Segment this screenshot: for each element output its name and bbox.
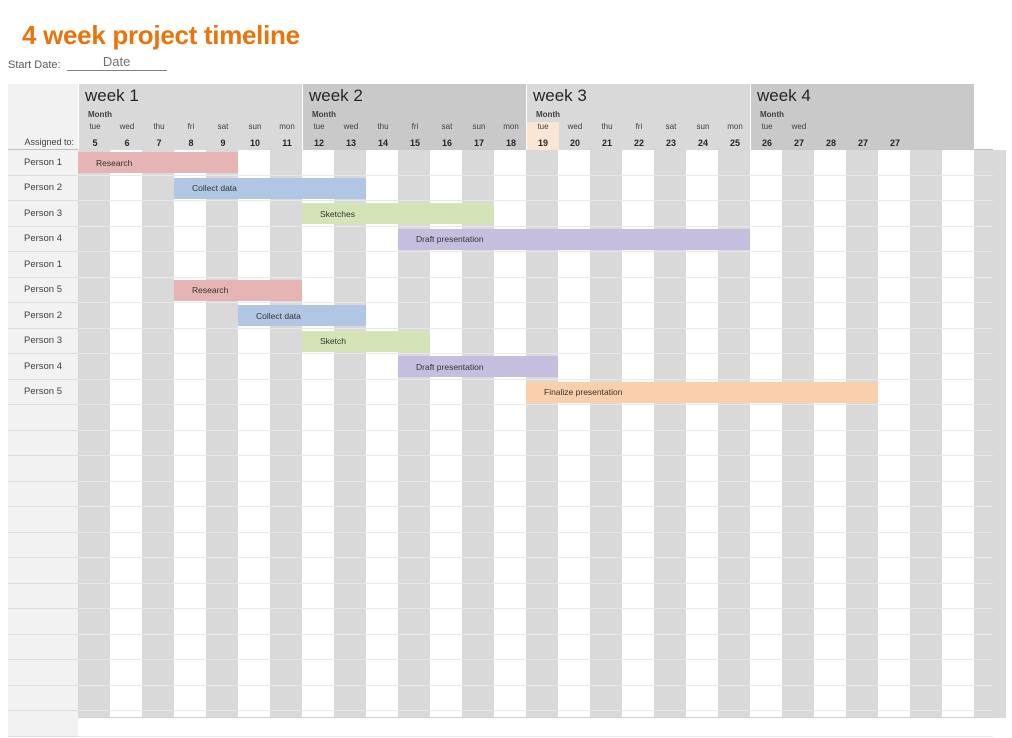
day-number: 13 bbox=[335, 138, 367, 148]
month-label: Month bbox=[536, 110, 560, 119]
table-row[interactable] bbox=[8, 558, 993, 584]
day-header-cell[interactable]: wed6 bbox=[111, 122, 143, 150]
day-header-cell[interactable]: wed27 bbox=[783, 122, 815, 150]
timeline-header: Assigned to: week 1Monthtue5wed6thu7fri8… bbox=[8, 84, 993, 150]
day-header-cell[interactable]: sun24 bbox=[687, 122, 719, 150]
day-header-cell[interactable]: thu21 bbox=[591, 122, 623, 150]
assignee-cell[interactable] bbox=[8, 456, 78, 482]
start-date-input[interactable]: Date bbox=[67, 54, 167, 71]
day-name: fri bbox=[399, 122, 431, 131]
day-number: 6 bbox=[111, 138, 143, 148]
table-row[interactable]: Person 3 bbox=[8, 329, 993, 355]
assignee-cell[interactable] bbox=[8, 660, 78, 686]
table-row[interactable]: Person 2 bbox=[8, 176, 993, 202]
day-number: 25 bbox=[719, 138, 751, 148]
week-header-block: week 2Monthtue12wed13thu14fri15sat16sun1… bbox=[302, 84, 526, 150]
day-number: 17 bbox=[463, 138, 495, 148]
day-header-cell[interactable]: tue19 bbox=[527, 122, 559, 150]
assignee-cell[interactable]: Person 2 bbox=[8, 303, 78, 329]
table-row[interactable] bbox=[8, 711, 993, 737]
day-number: 18 bbox=[495, 138, 527, 148]
day-name: wed bbox=[335, 122, 367, 131]
assignee-cell[interactable] bbox=[8, 635, 78, 661]
day-name: thu bbox=[591, 122, 623, 131]
assignee-cell[interactable] bbox=[8, 533, 78, 559]
task-bar[interactable]: Research bbox=[78, 152, 238, 173]
day-name: sat bbox=[207, 122, 239, 131]
timeline-body: Person 1Person 2Person 3Person 4Person 1… bbox=[8, 150, 993, 718]
assignee-cell[interactable] bbox=[8, 558, 78, 584]
day-header-cell[interactable]: thu14 bbox=[367, 122, 399, 150]
day-number: 21 bbox=[591, 138, 623, 148]
day-name: mon bbox=[271, 122, 303, 131]
assignee-cell[interactable] bbox=[8, 431, 78, 457]
table-row[interactable] bbox=[8, 609, 993, 635]
week-title: week 3 bbox=[533, 86, 587, 106]
page-title: 4 week project timeline bbox=[22, 20, 300, 51]
day-header-cell[interactable]: wed20 bbox=[559, 122, 591, 150]
day-header-cell[interactable]: sat16 bbox=[431, 122, 463, 150]
header-left-corner: Assigned to: bbox=[8, 84, 78, 150]
day-name: tue bbox=[303, 122, 335, 131]
task-bar[interactable]: Draft presentation bbox=[398, 356, 558, 377]
task-bar[interactable]: Sketches bbox=[302, 203, 494, 224]
table-row[interactable] bbox=[8, 635, 993, 661]
assignee-cell[interactable] bbox=[8, 405, 78, 431]
assignee-cell[interactable] bbox=[8, 711, 78, 737]
week-header-block: week 1Monthtue5wed6thu7fri8sat9sun10mon1… bbox=[78, 84, 302, 150]
assigned-to-header: Assigned to: bbox=[8, 137, 74, 147]
day-header-cell[interactable]: tue12 bbox=[303, 122, 335, 150]
day-number: 14 bbox=[367, 138, 399, 148]
day-header-cell[interactable] bbox=[911, 122, 943, 150]
assignee-cell[interactable]: Person 4 bbox=[8, 227, 78, 253]
day-header-cell[interactable] bbox=[943, 122, 975, 150]
assignee-cell[interactable]: Person 1 bbox=[8, 150, 78, 176]
assignee-cell[interactable]: Person 5 bbox=[8, 278, 78, 304]
day-number: 15 bbox=[399, 138, 431, 148]
day-name: wed bbox=[111, 122, 143, 131]
table-row[interactable] bbox=[8, 660, 993, 686]
day-name: fri bbox=[175, 122, 207, 131]
table-row[interactable] bbox=[8, 584, 993, 610]
day-number: 27 bbox=[783, 138, 815, 148]
day-number: 27 bbox=[847, 138, 879, 148]
day-name: thu bbox=[143, 122, 175, 131]
table-row[interactable] bbox=[8, 533, 993, 559]
day-number: 27 bbox=[879, 138, 911, 148]
week-title: week 2 bbox=[309, 86, 363, 106]
assignee-cell[interactable] bbox=[8, 482, 78, 508]
day-name: thu bbox=[367, 122, 399, 131]
day-header-cell[interactable]: sat9 bbox=[207, 122, 239, 150]
day-name: sun bbox=[463, 122, 495, 131]
day-number: 11 bbox=[271, 138, 303, 148]
day-name: sat bbox=[655, 122, 687, 131]
month-label: Month bbox=[88, 110, 112, 119]
day-header-cell[interactable]: wed13 bbox=[335, 122, 367, 150]
table-row[interactable]: Person 5 bbox=[8, 278, 993, 304]
table-row[interactable] bbox=[8, 405, 993, 431]
day-header-cell[interactable]: 27 bbox=[879, 122, 911, 150]
assignee-cell[interactable] bbox=[8, 609, 78, 635]
day-name: tue bbox=[527, 122, 559, 131]
day-name: mon bbox=[495, 122, 527, 131]
task-bar[interactable]: Sketch bbox=[302, 331, 430, 352]
task-bar[interactable]: Finalize presentation bbox=[526, 382, 878, 403]
assignee-cell[interactable]: Person 4 bbox=[8, 354, 78, 380]
assignee-cell[interactable]: Person 5 bbox=[8, 380, 78, 406]
assignee-cell[interactable]: Person 3 bbox=[8, 201, 78, 227]
day-number: 5 bbox=[79, 138, 111, 148]
table-row[interactable] bbox=[8, 431, 993, 457]
day-number: 12 bbox=[303, 138, 335, 148]
task-bar[interactable]: Collect data bbox=[238, 305, 366, 326]
table-row[interactable] bbox=[8, 456, 993, 482]
week-header-block: week 3Monthtue19wed20thu21fri22sat23sun2… bbox=[526, 84, 750, 150]
day-name: sun bbox=[687, 122, 719, 131]
assignee-cell[interactable]: Person 1 bbox=[8, 252, 78, 278]
project-timeline-page: 4 week project timeline Start Date: Date… bbox=[0, 0, 1012, 738]
day-header-cell[interactable]: tue26 bbox=[751, 122, 783, 150]
day-number: 22 bbox=[623, 138, 655, 148]
day-header-cell[interactable]: sun10 bbox=[239, 122, 271, 150]
task-bar[interactable]: Research bbox=[174, 280, 302, 301]
table-row[interactable] bbox=[8, 507, 993, 533]
day-header-cell[interactable]: sun17 bbox=[463, 122, 495, 150]
day-number: 26 bbox=[751, 138, 783, 148]
week-title: week 1 bbox=[85, 86, 139, 106]
day-header-cell[interactable]: tue5 bbox=[79, 122, 111, 150]
day-number: 23 bbox=[655, 138, 687, 148]
day-name: tue bbox=[79, 122, 111, 131]
day-name: tue bbox=[751, 122, 783, 131]
week-title: week 4 bbox=[757, 86, 811, 106]
day-header-cell[interactable]: mon25 bbox=[719, 122, 751, 150]
assignee-cell[interactable] bbox=[8, 584, 78, 610]
day-name: wed bbox=[559, 122, 591, 131]
table-row[interactable]: Person 1 bbox=[8, 252, 993, 278]
table-row[interactable] bbox=[8, 686, 993, 712]
day-number: 9 bbox=[207, 138, 239, 148]
month-label: Month bbox=[312, 110, 336, 119]
day-number: 28 bbox=[815, 138, 847, 148]
day-header-cell[interactable]: mon11 bbox=[271, 122, 303, 150]
day-header-cell[interactable]: mon18 bbox=[495, 122, 527, 150]
assignee-cell[interactable]: Person 2 bbox=[8, 176, 78, 202]
day-header-cell[interactable]: fri8 bbox=[175, 122, 207, 150]
task-bar[interactable]: Collect data bbox=[174, 178, 366, 199]
day-number: 10 bbox=[239, 138, 271, 148]
assignee-cell[interactable]: Person 3 bbox=[8, 329, 78, 355]
day-header-cell[interactable]: 28 bbox=[815, 122, 847, 150]
day-name: wed bbox=[783, 122, 815, 131]
day-name: sun bbox=[239, 122, 271, 131]
day-header-cell[interactable]: fri22 bbox=[623, 122, 655, 150]
day-name: fri bbox=[623, 122, 655, 131]
day-number: 16 bbox=[431, 138, 463, 148]
table-row[interactable] bbox=[8, 482, 993, 508]
start-date-row: Start Date: Date bbox=[8, 54, 167, 71]
day-number: 20 bbox=[559, 138, 591, 148]
gantt-grid: Assigned to: week 1Monthtue5wed6thu7fri8… bbox=[8, 84, 993, 718]
month-label: Month bbox=[760, 110, 784, 119]
table-row[interactable]: Person 3 bbox=[8, 201, 993, 227]
day-header-cell[interactable]: sat23 bbox=[655, 122, 687, 150]
day-name: sat bbox=[431, 122, 463, 131]
day-number: 19 bbox=[527, 138, 559, 148]
assignee-cell[interactable] bbox=[8, 507, 78, 533]
week-header-block: week 4Monthtue26wed27282727 bbox=[750, 84, 974, 150]
day-name: mon bbox=[719, 122, 751, 131]
day-header-cell[interactable]: thu7 bbox=[143, 122, 175, 150]
day-header-cell[interactable]: 27 bbox=[847, 122, 879, 150]
task-bar[interactable]: Draft presentation bbox=[398, 229, 750, 250]
day-number: 24 bbox=[687, 138, 719, 148]
day-number: 8 bbox=[175, 138, 207, 148]
assignee-cell[interactable] bbox=[8, 686, 78, 712]
day-number: 7 bbox=[143, 138, 175, 148]
table-row[interactable]: Person 2 bbox=[8, 303, 993, 329]
start-date-label: Start Date: bbox=[8, 59, 61, 71]
day-header-cell[interactable]: fri15 bbox=[399, 122, 431, 150]
